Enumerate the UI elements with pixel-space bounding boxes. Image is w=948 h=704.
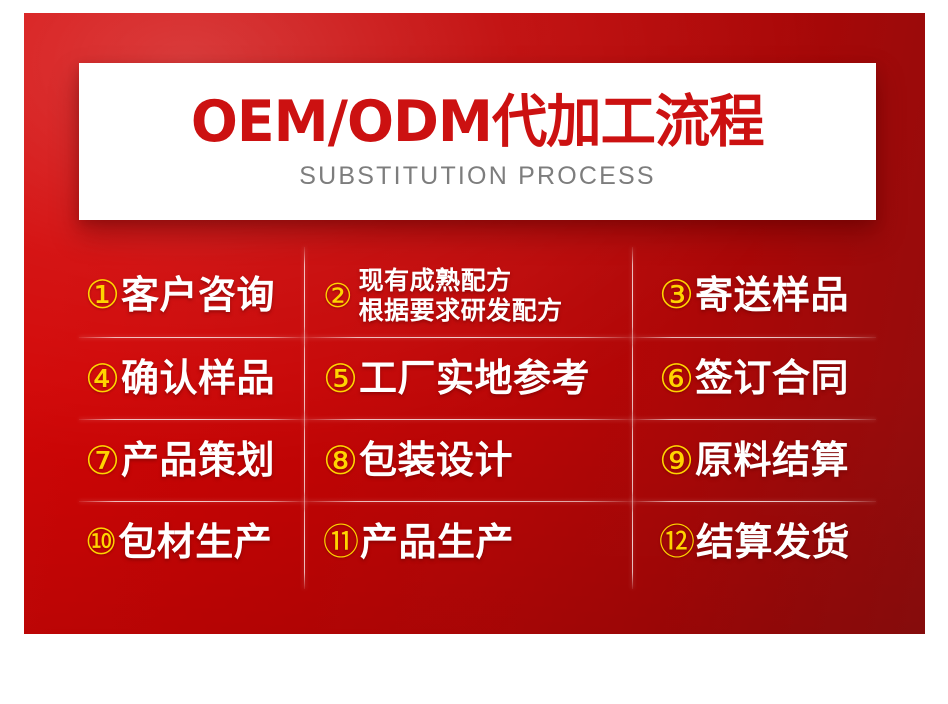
page-title: OEM/ODM代加工流程 — [191, 93, 764, 153]
step-label-9: 原料结算 — [695, 441, 849, 481]
step-label-7: 产品策划 — [121, 441, 275, 481]
step-cell-3[interactable]: ③ 寄送样品 — [633, 253, 876, 338]
step-number-1: ① — [85, 276, 120, 315]
step-number-11: ⑪ — [323, 525, 359, 561]
step-label-2: 现有成熟配方 根据要求研发配方 — [359, 266, 563, 325]
page-subtitle: SUBSTITUTION PROCESS — [299, 163, 656, 191]
step-number-7: ⑦ — [85, 442, 120, 481]
step-label-2-line1: 现有成熟配方 — [359, 266, 563, 296]
step-label-12: 结算发货 — [696, 523, 850, 563]
step-number-10: ⑩ — [85, 525, 117, 561]
step-number-3: ③ — [659, 276, 694, 315]
red-poster-panel: OEM/ODM代加工流程 SUBSTITUTION PROCESS ① 客户咨询… — [24, 13, 925, 634]
step-label-6: 签订合同 — [695, 359, 849, 399]
step-label-10: 包材生产 — [118, 523, 272, 563]
step-label-3: 寄送样品 — [695, 276, 849, 316]
step-label-4: 确认样品 — [121, 359, 275, 399]
title-card: OEM/ODM代加工流程 SUBSTITUTION PROCESS — [79, 63, 876, 220]
step-cell-7[interactable]: ⑦ 产品策划 — [79, 420, 305, 502]
step-cell-2[interactable]: ② 现有成熟配方 根据要求研发配方 — [305, 253, 633, 338]
step-label-2-line2: 根据要求研发配方 — [359, 296, 563, 326]
step-label-1: 客户咨询 — [121, 276, 275, 316]
step-number-6: ⑥ — [659, 360, 694, 399]
step-cell-9[interactable]: ⑨ 原料结算 — [633, 420, 876, 502]
step-cell-8[interactable]: ⑧ 包装设计 — [305, 420, 633, 502]
step-number-4: ④ — [85, 360, 120, 399]
step-number-9: ⑨ — [659, 442, 694, 481]
step-cell-6[interactable]: ⑥ 签订合同 — [633, 338, 876, 420]
step-cell-4[interactable]: ④ 确认样品 — [79, 338, 305, 420]
step-label-11: 产品生产 — [360, 523, 514, 563]
step-label-5: 工厂实地参考 — [359, 359, 590, 399]
step-label-8: 包装设计 — [359, 441, 513, 481]
step-cell-10[interactable]: ⑩ 包材生产 — [79, 502, 305, 583]
step-number-5: ⑤ — [323, 360, 358, 399]
process-steps-grid: ① 客户咨询 ② 现有成熟配方 根据要求研发配方 ③ 寄送样品 ④ 确认样品 ⑤ — [79, 253, 876, 583]
step-cell-1[interactable]: ① 客户咨询 — [79, 253, 305, 338]
step-number-8: ⑧ — [323, 442, 358, 481]
step-cell-5[interactable]: ⑤ 工厂实地参考 — [305, 338, 633, 420]
step-number-2: ② — [323, 279, 353, 312]
step-number-12: ⑫ — [659, 525, 695, 561]
step-cell-11[interactable]: ⑪ 产品生产 — [305, 502, 633, 583]
poster-page: OEM/ODM代加工流程 SUBSTITUTION PROCESS ① 客户咨询… — [0, 0, 948, 704]
step-cell-12[interactable]: ⑫ 结算发货 — [633, 502, 876, 583]
